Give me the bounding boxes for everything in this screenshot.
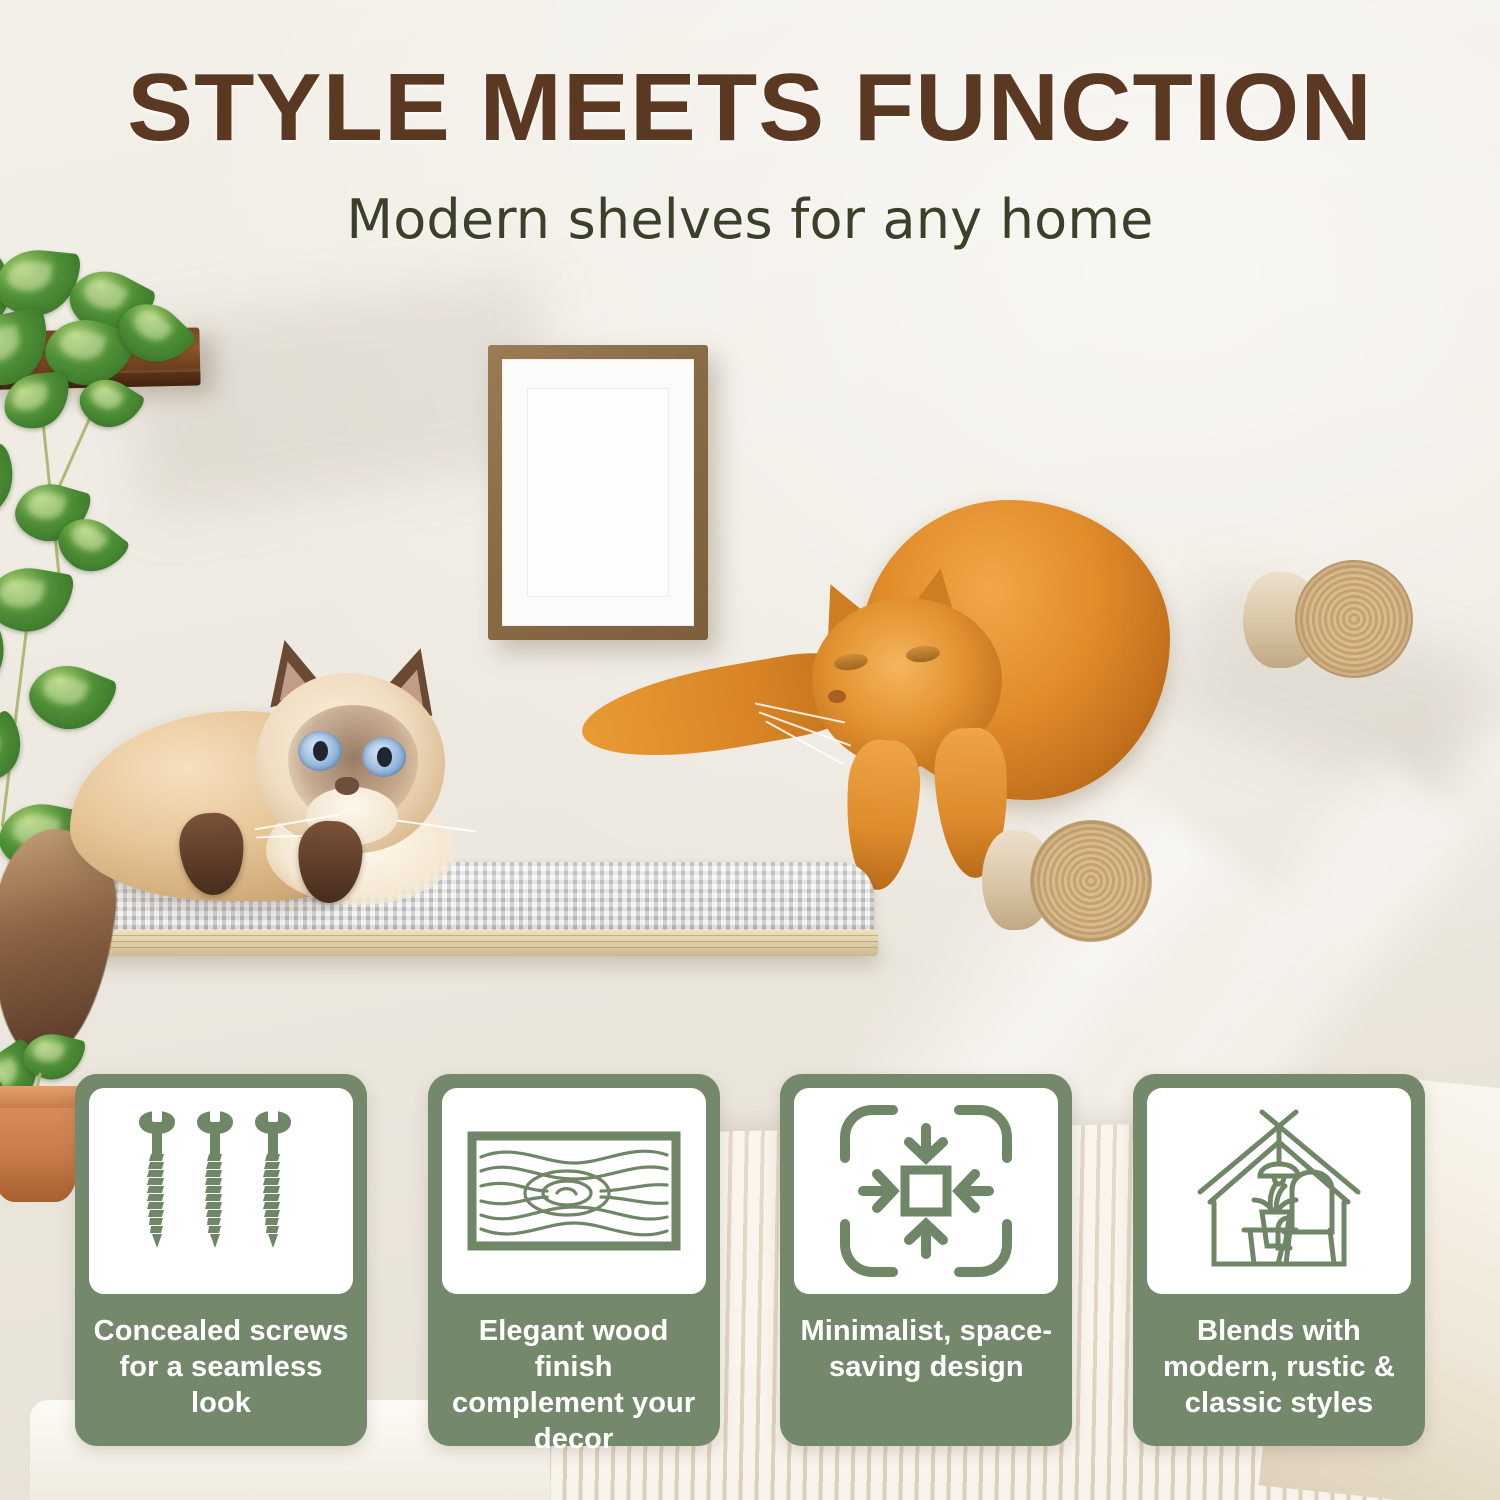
frame-inner-panel [527,388,669,596]
cat-pupil [377,747,392,767]
sisal-rope-spiral [1030,820,1152,942]
sisal-step-lower [1030,820,1152,942]
feature-card-space-saving[interactable]: Minimalist, space-saving design [780,1074,1072,1446]
feature-card-wood-finish[interactable]: Elegant wood finish complement your deco… [428,1074,720,1446]
wall-picture-frame [488,345,708,640]
screws-icon [89,1088,353,1294]
feature-card-label: Elegant wood finish complement your deco… [442,1294,706,1480]
cat-pupil [313,741,328,761]
space-saving-compress-icon [794,1088,1058,1294]
feature-card-label: Blends with modern, rustic & classic sty… [1147,1294,1411,1444]
wood-grain-icon [442,1088,706,1294]
feature-card-style-blend[interactable]: Blends with modern, rustic & classic sty… [1133,1074,1425,1446]
page-title: STYLE MEETS FUNCTION [0,60,1500,156]
feature-card-label: Concealed screws for a seamless look [89,1294,353,1444]
product-infographic: STYLE MEETS FUNCTION Modern shelves for … [0,0,1500,1500]
feature-card-concealed-screws[interactable]: Concealed screws for a seamless look [75,1074,367,1446]
frame-mat [502,359,694,626]
sisal-rope-spiral [1295,560,1413,678]
cat-nose [335,777,359,795]
house-interior-icon [1147,1088,1411,1294]
sisal-step-upper [1295,560,1413,678]
page-subtitle: Modern shelves for any home [0,188,1500,251]
feature-card-label: Minimalist, space-saving design [794,1294,1058,1408]
terracotta-pot [0,1098,78,1202]
cat-nose [828,690,846,703]
feature-card-row: Concealed screws for a seamless look [75,1074,1425,1446]
birman-cat [30,645,500,1065]
